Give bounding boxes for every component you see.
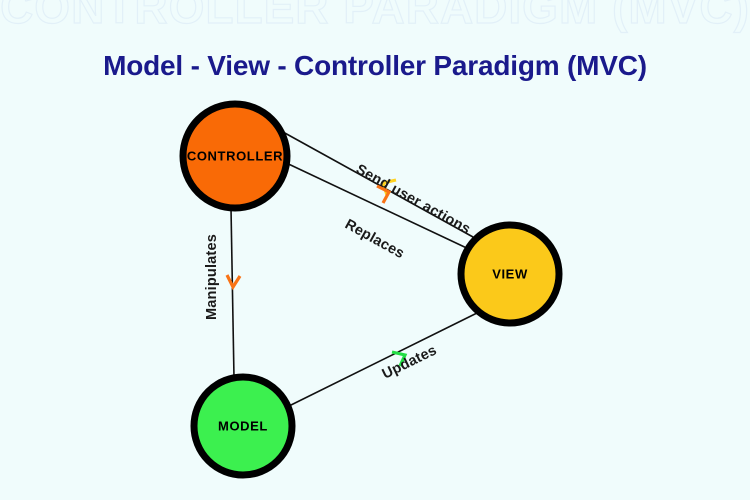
diagram-canvas: CONTROLLER PARADIGM (MVC) Model - View -… [0, 0, 750, 500]
edge-label-replaces: Replaces [342, 217, 407, 263]
edge-updates: Updates [289, 313, 477, 406]
node-controller[interactable]: CONTROLLER [183, 104, 287, 208]
edge-label-send-user-actions: Send user actions [353, 162, 473, 238]
edge-label-updates: Updates [380, 343, 440, 383]
controller-label: CONTROLLER [187, 149, 283, 164]
mvc-diagram: Send user actions Replaces Manipulates U… [0, 0, 750, 500]
view-label: VIEW [492, 267, 528, 282]
edge-label-manipulates: Manipulates [204, 234, 220, 320]
node-model[interactable]: MODEL [194, 377, 292, 475]
edge-manipulates: Manipulates [204, 208, 240, 378]
node-view[interactable]: VIEW [461, 225, 559, 323]
edge-line-updates [289, 313, 477, 406]
edge-line-manipulates [231, 208, 234, 378]
arrowhead-manipulates [227, 275, 240, 287]
model-label: MODEL [218, 419, 268, 434]
